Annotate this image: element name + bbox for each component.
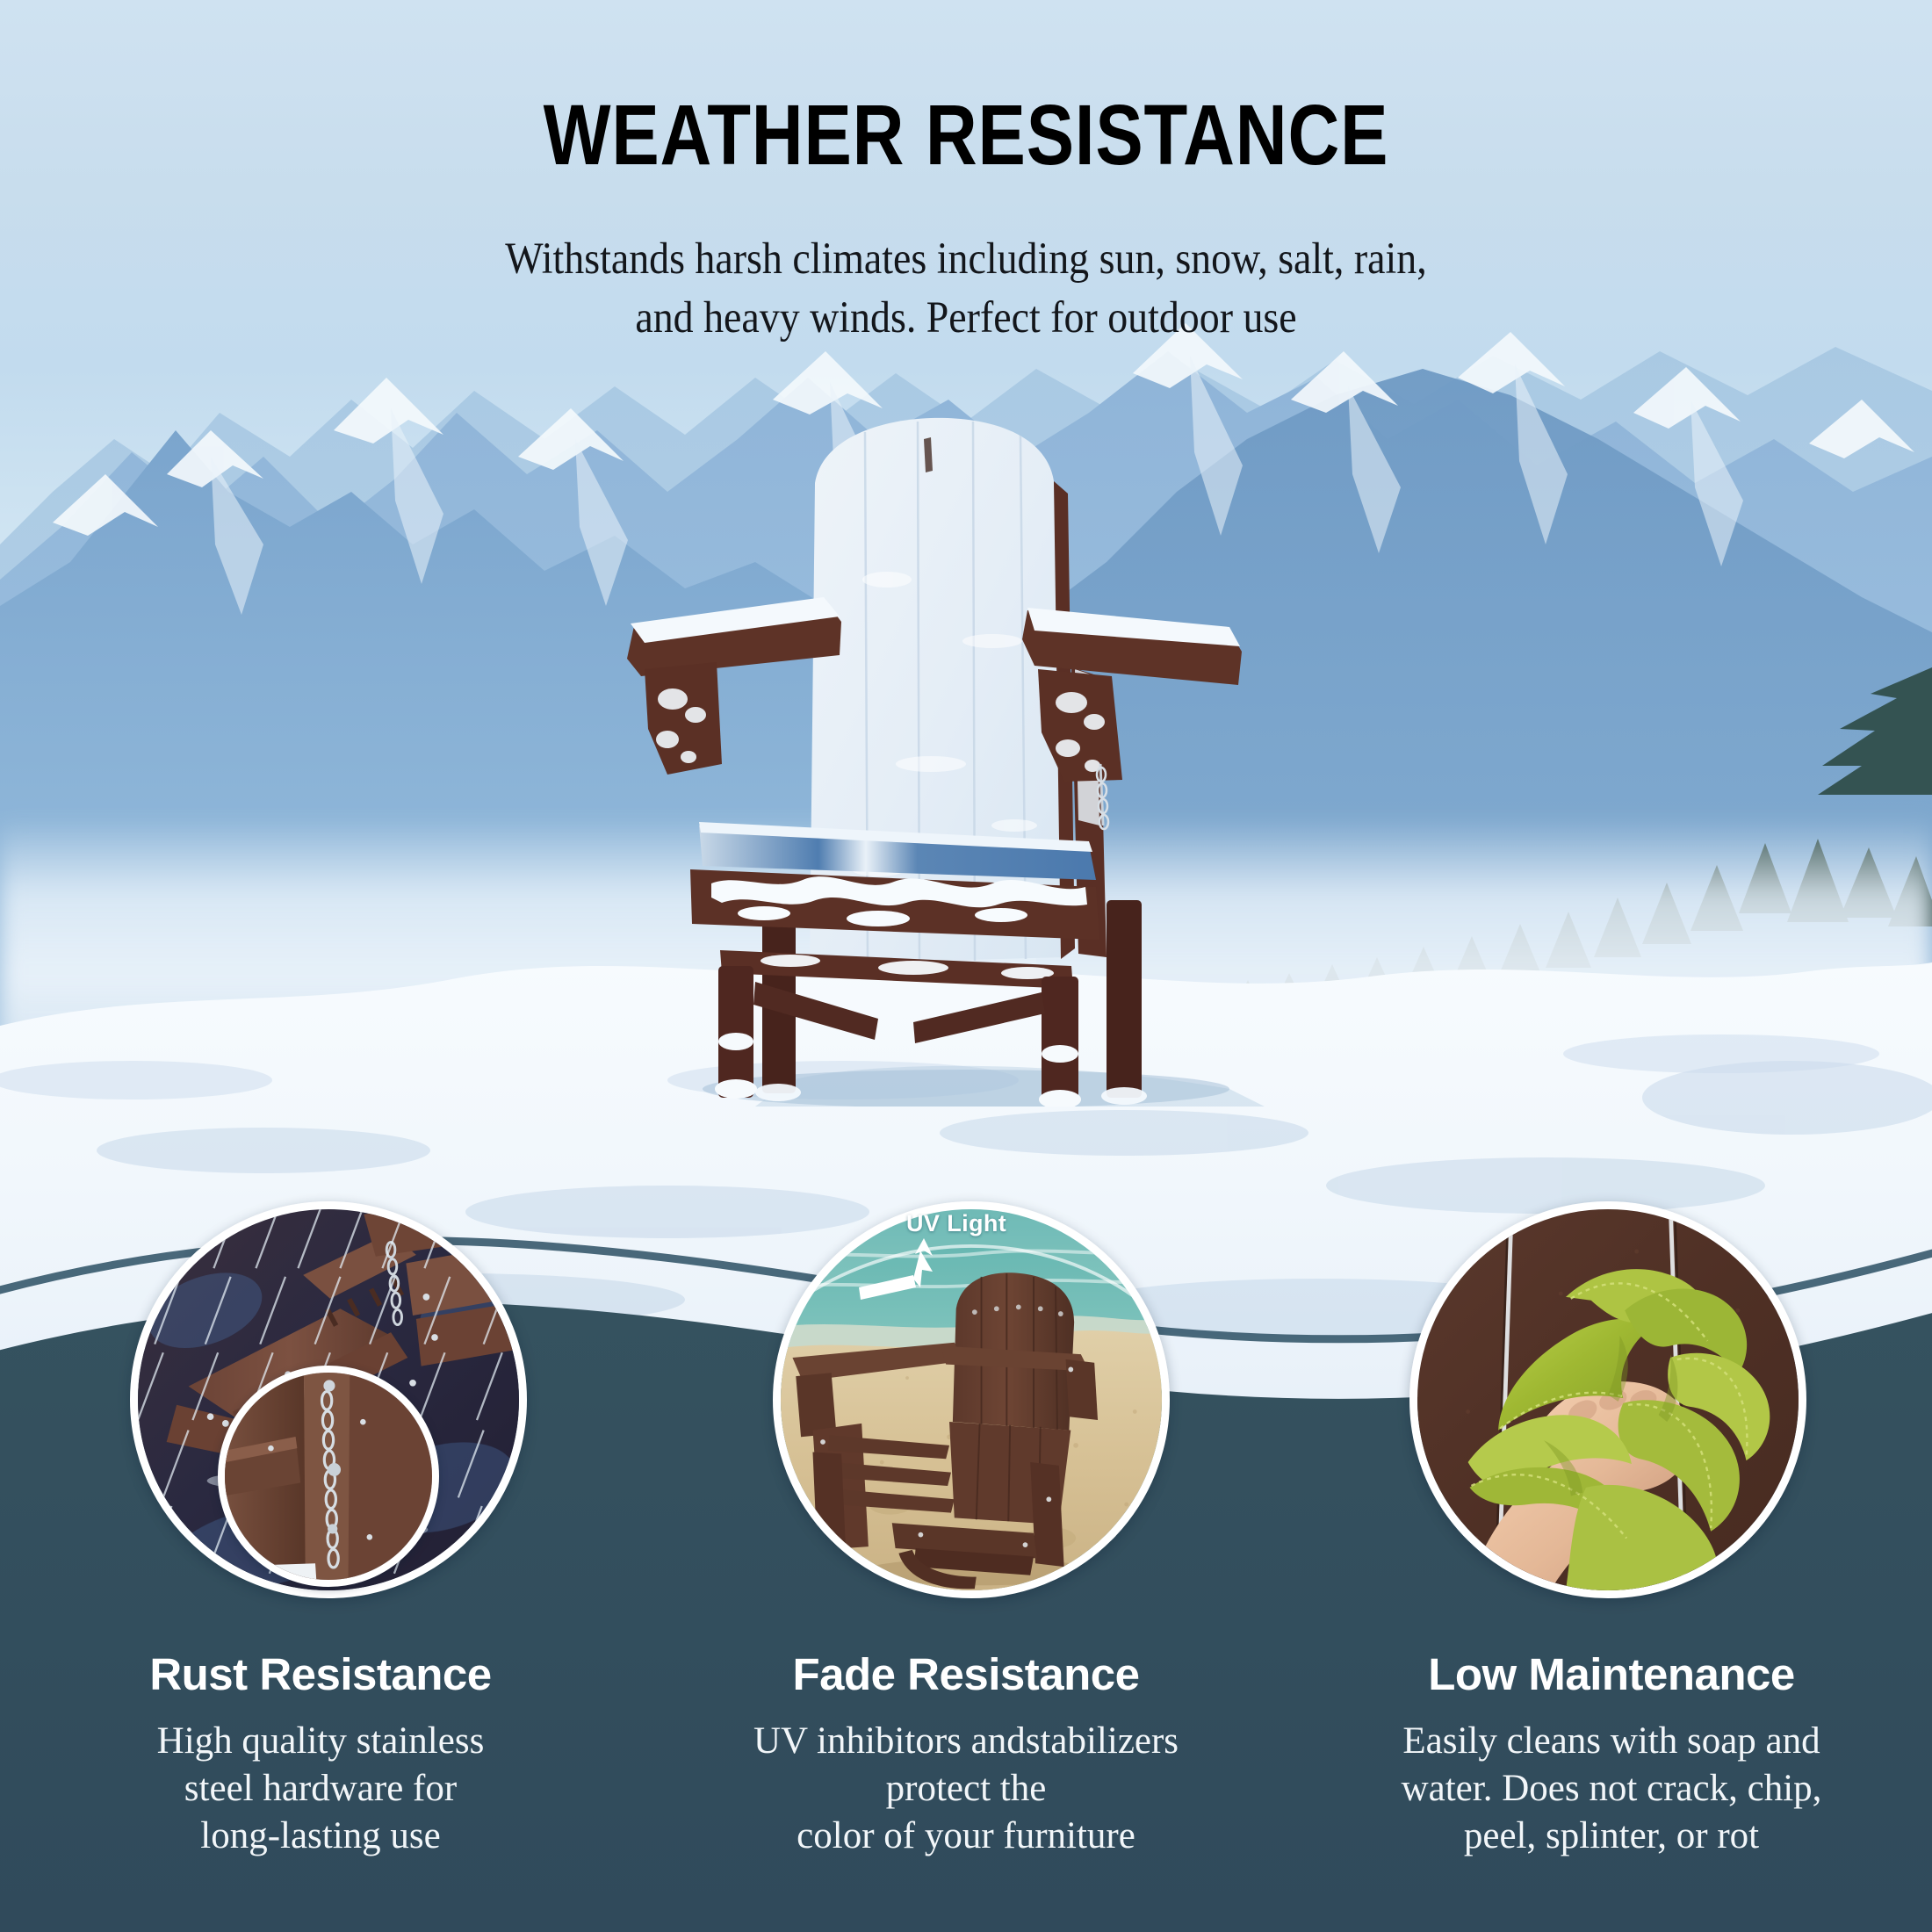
- feature-body-line: water. Does not crack, chip,: [1322, 1765, 1901, 1813]
- feature-title-fade-resistance: Fade Resistance: [676, 1651, 1256, 1698]
- feature-card-low-maintenance: Low Maintenance Easily cleans with soap …: [1322, 1651, 1901, 1860]
- feature-card-rust-resistance: Rust Resistance High quality stainless s…: [31, 1651, 610, 1860]
- feature-body-low-maintenance: Easily cleans with soap and water. Does …: [1322, 1718, 1901, 1861]
- page-subtitle: Withstands harsh climates including sun,…: [97, 230, 1835, 349]
- feature-image-low-maintenance: [1409, 1201, 1806, 1598]
- feature-body-line: UV inhibitors andstabilizers: [676, 1718, 1256, 1765]
- feature-body-fade-resistance: UV inhibitors andstabilizers protect the…: [676, 1718, 1256, 1861]
- feature-body-line: peel, splinter, or rot: [1322, 1813, 1901, 1860]
- feature-body-rust-resistance: High quality stainless steel hardware fo…: [31, 1718, 610, 1861]
- page-title: WEATHER RESISTANCE: [155, 92, 1777, 177]
- feature-card-fade-resistance: Fade Resistance UV inhibitors andstabili…: [676, 1651, 1256, 1860]
- feature-title-low-maintenance: Low Maintenance: [1322, 1651, 1901, 1698]
- snow-covered-adirondack-chair: [615, 413, 1265, 1107]
- feature-body-line: protect the: [676, 1765, 1256, 1813]
- feature-body-line: steel hardware for: [31, 1765, 610, 1813]
- feature-body-line: color of your furniture: [676, 1813, 1256, 1860]
- feature-image-rust-hardware-closeup: [218, 1366, 439, 1587]
- feature-title-rust-resistance: Rust Resistance: [31, 1651, 610, 1698]
- uv-light-arrow-icon: [852, 1233, 984, 1321]
- feature-body-line: Easily cleans with soap and: [1322, 1718, 1901, 1765]
- feature-body-line: High quality stainless: [31, 1718, 610, 1765]
- feature-body-line: long-lasting use: [31, 1813, 610, 1860]
- infographic-canvas: UV Light WEATHER RESISTANCE Withstands h…: [0, 0, 1932, 1932]
- subtitle-line-2: and heavy winds. Perfect for outdoor use: [97, 289, 1835, 348]
- subtitle-line-1: Withstands harsh climates including sun,…: [505, 234, 1426, 284]
